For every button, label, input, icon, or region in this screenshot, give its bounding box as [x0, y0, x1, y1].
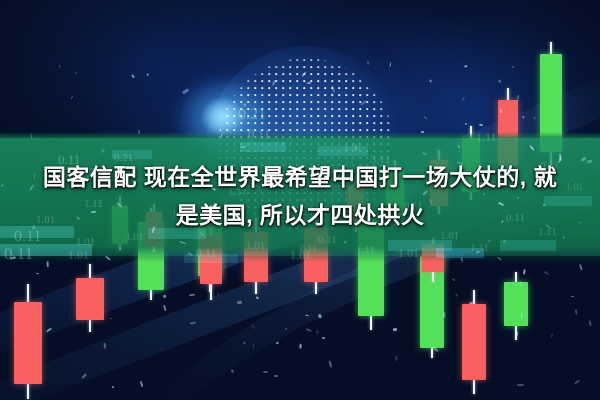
particle-fleck: [523, 269, 526, 274]
particle-fleck: [302, 71, 308, 77]
particle-fleck: [252, 343, 254, 348]
particle-fleck: [330, 92, 333, 94]
particle-fleck: [395, 356, 397, 361]
particle-fleck: [35, 272, 38, 274]
particle-fleck: [497, 257, 501, 261]
particle-fleck: [30, 133, 32, 140]
particle-fleck: [429, 79, 432, 83]
particle-fleck: [432, 346, 438, 352]
particle-fleck: [239, 146, 245, 149]
particle-fleck: [517, 384, 524, 386]
particle-fleck: [579, 264, 583, 270]
particle-fleck: [457, 144, 460, 148]
particle-fleck: [189, 322, 195, 325]
particle-fleck: [46, 261, 48, 267]
particle-fleck: [104, 342, 106, 348]
particle-fleck: [521, 312, 522, 318]
particle-fleck: [455, 293, 458, 297]
particle-fleck: [251, 324, 256, 329]
particle-fleck: [465, 65, 468, 68]
particle-fleck: [71, 95, 74, 99]
particle-fleck: [316, 331, 319, 334]
particle-fleck: [274, 375, 278, 377]
particle-fleck: [588, 320, 592, 326]
particle-fleck: [74, 72, 77, 75]
particle-fleck: [285, 328, 288, 331]
particle-fleck: [105, 256, 111, 261]
particle-fleck: [468, 302, 474, 305]
particle-fleck: [255, 296, 258, 299]
particle-fleck: [421, 131, 424, 133]
particle-fleck: [187, 252, 193, 257]
particle-fleck: [10, 256, 16, 260]
particle-fleck: [307, 82, 311, 85]
particle-fleck: [544, 271, 549, 275]
particle-fleck: [460, 257, 462, 263]
particle-fleck: [574, 379, 580, 384]
particle-fleck: [512, 66, 514, 68]
particle-fleck: [305, 314, 309, 316]
particle-fleck: [182, 88, 189, 94]
news-hero-image: 0.110.210.111.113.111.111.010.110.111.01…: [0, 0, 600, 400]
particle-fleck: [231, 369, 234, 372]
particle-fleck: [516, 95, 518, 101]
particle-fleck: [575, 309, 578, 314]
particle-fleck: [529, 145, 534, 151]
particle-fleck: [452, 278, 455, 281]
particle-fleck: [237, 301, 242, 304]
particle-fleck: [82, 373, 88, 379]
particle-fleck: [318, 313, 322, 318]
particle-fleck: [162, 294, 166, 298]
particle-fleck: [503, 240, 506, 242]
particle-fleck: [217, 292, 219, 297]
particle-fleck: [344, 241, 346, 244]
particle-fleck: [500, 109, 502, 113]
particle-fleck: [464, 123, 467, 126]
particle-fleck: [562, 236, 565, 239]
particle-fleck: [272, 80, 276, 86]
particle-fleck: [498, 79, 501, 83]
particle-fleck: [140, 381, 143, 387]
particle-fleck: [515, 331, 518, 337]
particle-fleck: [110, 318, 113, 320]
particle-fleck: [479, 124, 484, 127]
particle-fleck: [488, 240, 491, 243]
particle-fleck: [571, 296, 574, 297]
particle-fleck: [329, 360, 333, 367]
headline-line-1: 国客信配 现在全世界最希望中国打一场大仗的, 就: [8, 158, 592, 196]
particle-fleck: [220, 133, 223, 138]
particle-fleck: [45, 328, 51, 333]
particle-fleck: [306, 329, 312, 332]
particle-fleck: [179, 241, 186, 244]
particle-fleck: [101, 149, 105, 153]
particle-fleck: [322, 336, 325, 339]
headline-line-2: 是美国, 所以才四处拱火: [8, 196, 592, 234]
particle-fleck: [263, 371, 268, 373]
particle-fleck: [131, 74, 135, 78]
particle-fleck: [462, 97, 465, 100]
particle-fleck: [163, 305, 166, 311]
particle-fleck: [551, 334, 553, 338]
particle-fleck: [533, 116, 537, 120]
particle-fleck: [243, 103, 246, 107]
particle-fleck: [276, 341, 279, 344]
particle-fleck: [243, 341, 246, 344]
particle-fleck: [522, 115, 525, 118]
particle-fleck: [58, 65, 60, 68]
particle-fleck: [392, 328, 397, 331]
particle-fleck: [188, 293, 194, 296]
particle-fleck: [367, 61, 368, 65]
particle-fleck: [354, 145, 357, 151]
particle-fleck: [112, 386, 114, 388]
particle-fleck: [390, 62, 392, 67]
particle-fleck: [423, 115, 427, 119]
page-title: 国客信配 现在全世界最希望中国打一场大仗的, 就 是美国, 所以才四处拱火: [0, 158, 600, 234]
particle-fleck: [331, 85, 335, 92]
particle-fleck: [147, 73, 149, 76]
particle-fleck: [300, 343, 302, 348]
particle-fleck: [422, 152, 428, 157]
particle-fleck: [520, 281, 522, 287]
particle-fleck: [443, 312, 445, 318]
particle-fleck: [476, 250, 481, 254]
particle-fleck: [360, 100, 366, 105]
particle-fleck: [138, 130, 141, 135]
